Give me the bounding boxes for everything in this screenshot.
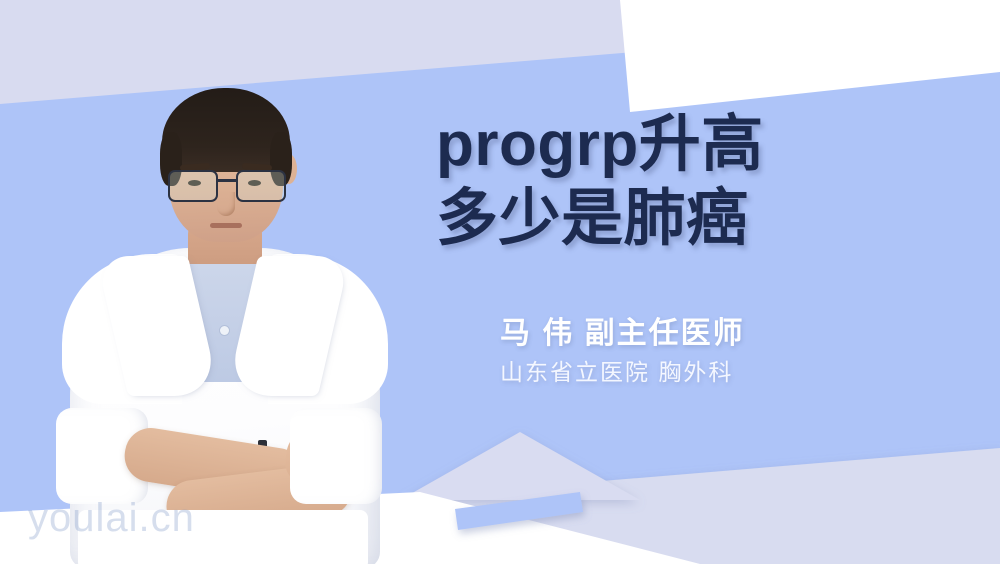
headline-line-1: progrp升高 bbox=[436, 108, 764, 182]
shirt-button bbox=[220, 326, 229, 335]
headline-line-2: 多少是肺癌 bbox=[436, 182, 764, 256]
lens-right bbox=[236, 170, 286, 202]
coat-waist bbox=[78, 510, 368, 564]
lens-left bbox=[168, 170, 218, 202]
doctor-name-and-rank: 马 伟 副主任医师 bbox=[500, 314, 745, 354]
byline: 马 伟 副主任医师 山东省立医院 胸外科 bbox=[500, 314, 745, 390]
nose bbox=[217, 192, 235, 216]
video-thumbnail-card: progrp升高 多少是肺癌 马 伟 副主任医师 山东省立医院 胸外科 youl… bbox=[0, 0, 1000, 564]
doctor-portrait bbox=[60, 58, 390, 564]
glasses-bridge bbox=[216, 179, 238, 182]
coat-sleeve-left bbox=[290, 408, 382, 504]
headline: progrp升高 多少是肺癌 bbox=[436, 108, 764, 256]
doctor-organization: 山东省立医院 胸外科 bbox=[500, 354, 745, 390]
mouth bbox=[210, 223, 242, 228]
